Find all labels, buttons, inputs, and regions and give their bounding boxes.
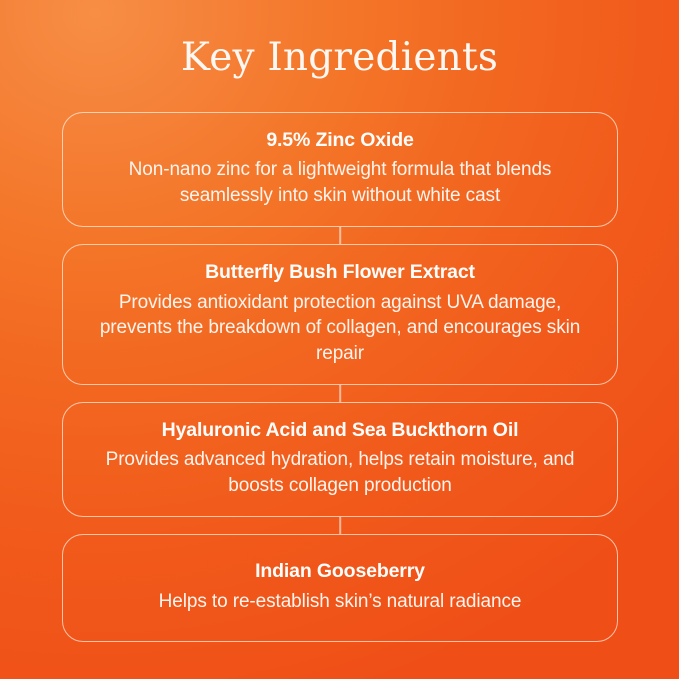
ingredient-card-body: Provides antioxidant protection against … (89, 290, 591, 366)
ingredient-card-heading: Hyaluronic Acid and Sea Buckthorn Oil (89, 418, 591, 442)
card-connector-wrapper-1 (62, 227, 618, 244)
ingredient-card-indian-gooseberry[interactable]: Indian Gooseberry Helps to re-establish … (62, 534, 618, 642)
ingredient-card-hyaluronic-acid-sea-buckthorn-oil[interactable]: Hyaluronic Acid and Sea Buckthorn Oil Pr… (62, 402, 618, 517)
page-title: Key Ingredients (0, 36, 679, 81)
ingredient-card-wrapper-2: Butterfly Bush Flower Extract Provides a… (62, 244, 618, 385)
ingredient-card-body: Helps to re-establish skin’s natural rad… (89, 589, 591, 614)
card-connector-wrapper-2 (62, 385, 618, 402)
ingredient-card-wrapper-3: Hyaluronic Acid and Sea Buckthorn Oil Pr… (62, 402, 618, 517)
card-connector-line (339, 517, 341, 534)
ingredient-card-heading: Butterfly Bush Flower Extract (89, 260, 591, 284)
key-ingredients-poster: Key Ingredients 9.5% Zinc Oxide Non-nano… (0, 0, 679, 679)
ingredient-card-list: 9.5% Zinc Oxide Non-nano zinc for a ligh… (62, 112, 618, 642)
ingredient-card-heading: Indian Gooseberry (89, 559, 591, 583)
ingredient-card-butterfly-bush-flower-extract[interactable]: Butterfly Bush Flower Extract Provides a… (62, 244, 618, 385)
ingredient-card-wrapper-4: Indian Gooseberry Helps to re-establish … (62, 534, 618, 642)
ingredient-card-body: Non-nano zinc for a lightweight formula … (89, 157, 591, 208)
ingredient-card-zinc-oxide[interactable]: 9.5% Zinc Oxide Non-nano zinc for a ligh… (62, 112, 618, 227)
card-connector-wrapper-3 (62, 517, 618, 534)
ingredient-card-heading: 9.5% Zinc Oxide (89, 128, 591, 152)
ingredient-card-body: Provides advanced hydration, helps retai… (89, 447, 591, 498)
card-connector-line (339, 385, 341, 402)
ingredient-card-wrapper-1: 9.5% Zinc Oxide Non-nano zinc for a ligh… (62, 112, 618, 227)
card-connector-line (339, 227, 341, 244)
